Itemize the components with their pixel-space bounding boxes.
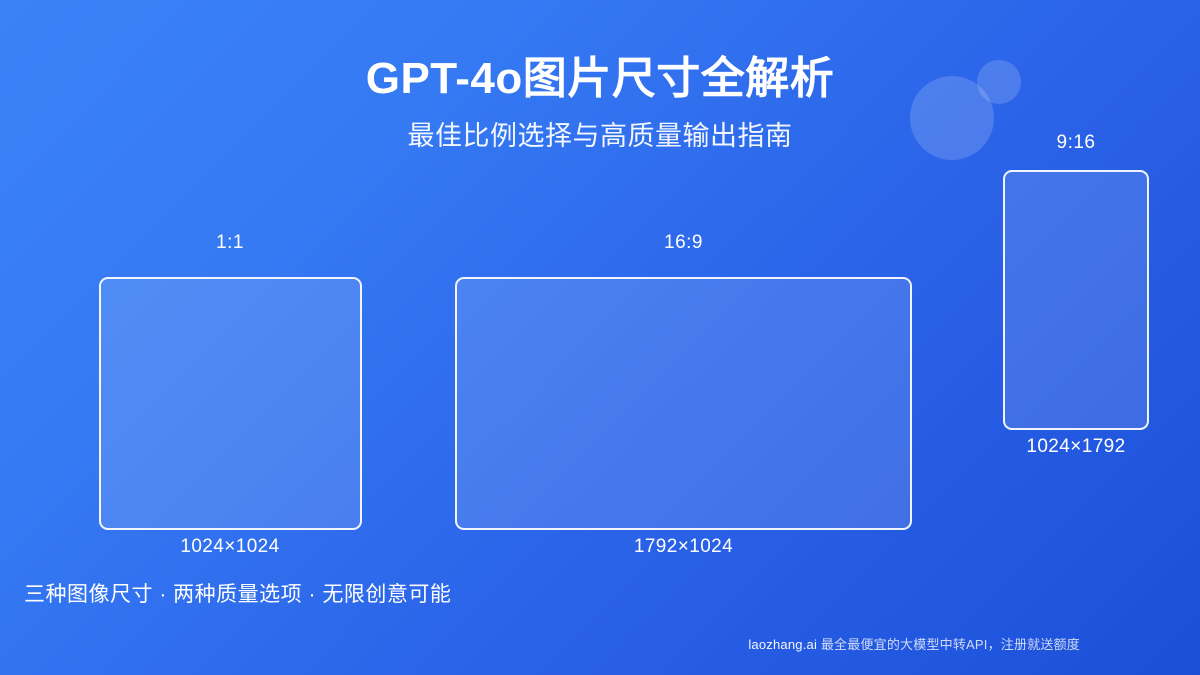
ratio-card-landscape: 16:9 1792×1024: [455, 232, 912, 562]
ratio-label-portrait: 9:16: [1003, 132, 1149, 154]
header: GPT-4o图片尺寸全解析 最佳比例选择与高质量输出指南: [0, 0, 1200, 152]
watermark-brand: laozhang.ai: [748, 637, 817, 652]
ratio-box-portrait: [1003, 170, 1149, 430]
page-title: GPT-4o图片尺寸全解析: [0, 0, 1200, 106]
footer-tagline: 三种图像尺寸 · 两种质量选项 · 无限创意可能: [24, 578, 451, 608]
ratio-card-portrait: 9:16 1024×1792: [1003, 132, 1149, 464]
ratio-card-square: 1:1 1024×1024: [60, 232, 400, 562]
ratio-box-square: [99, 277, 362, 530]
watermark: laozhang.ai 最全最便宜的大模型中转API，注册就送额度: [748, 634, 1080, 653]
ratio-label-landscape: 16:9: [455, 232, 912, 254]
ratio-box-landscape: [455, 277, 912, 530]
ratio-dimensions-portrait: 1024×1792: [1003, 436, 1149, 458]
ratio-dimensions-square: 1024×1024: [60, 536, 400, 558]
poster-canvas: GPT-4o图片尺寸全解析 最佳比例选择与高质量输出指南 1:1 1024×10…: [0, 0, 1200, 675]
watermark-text: 最全最便宜的大模型中转API，注册就送额度: [821, 637, 1080, 652]
ratio-dimensions-landscape: 1792×1024: [455, 536, 912, 558]
ratio-label-square: 1:1: [60, 232, 400, 254]
